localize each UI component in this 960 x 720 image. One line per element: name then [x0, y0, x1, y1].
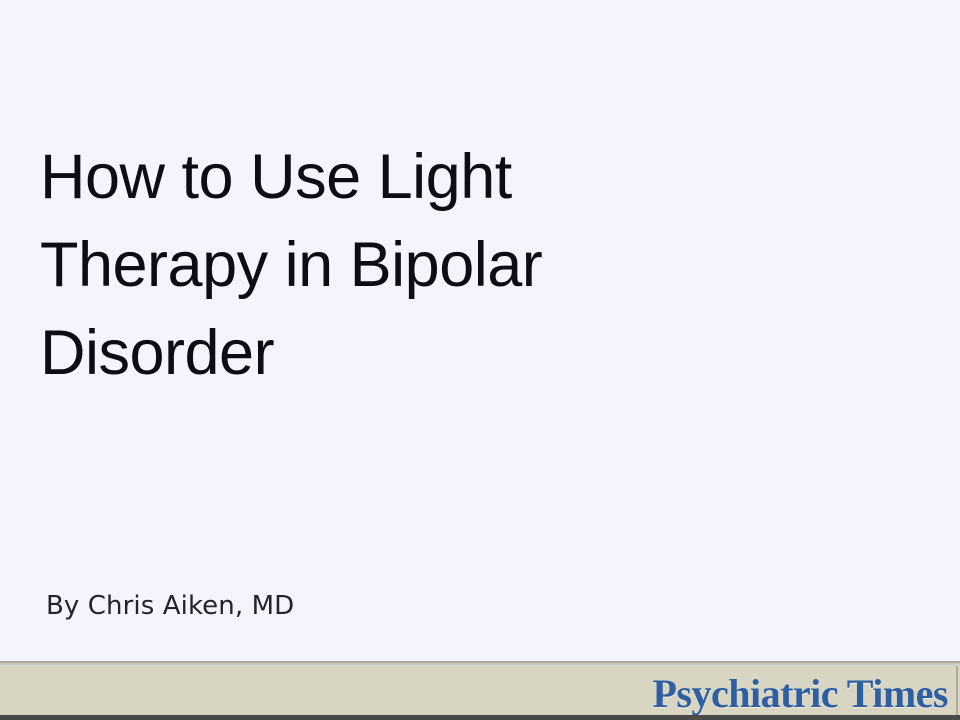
psychiatric-times-logo: Psychiatric Times [652, 672, 948, 716]
slide-title-line-1: How to Use Light [40, 133, 680, 221]
footer-right-edge [956, 666, 958, 716]
footer-baseline-strip [0, 715, 960, 720]
slide-title-line-3: Disorder [40, 309, 680, 397]
presentation-slide: How to Use Light Therapy in Bipolar Diso… [0, 0, 960, 720]
footer-branding-band: Psychiatric Times [0, 661, 960, 720]
slide-title: How to Use Light Therapy in Bipolar Diso… [40, 133, 680, 397]
slide-title-line-2: Therapy in Bipolar [40, 221, 680, 309]
slide-subtitle-author: By Chris Aiken, MD [46, 589, 294, 623]
